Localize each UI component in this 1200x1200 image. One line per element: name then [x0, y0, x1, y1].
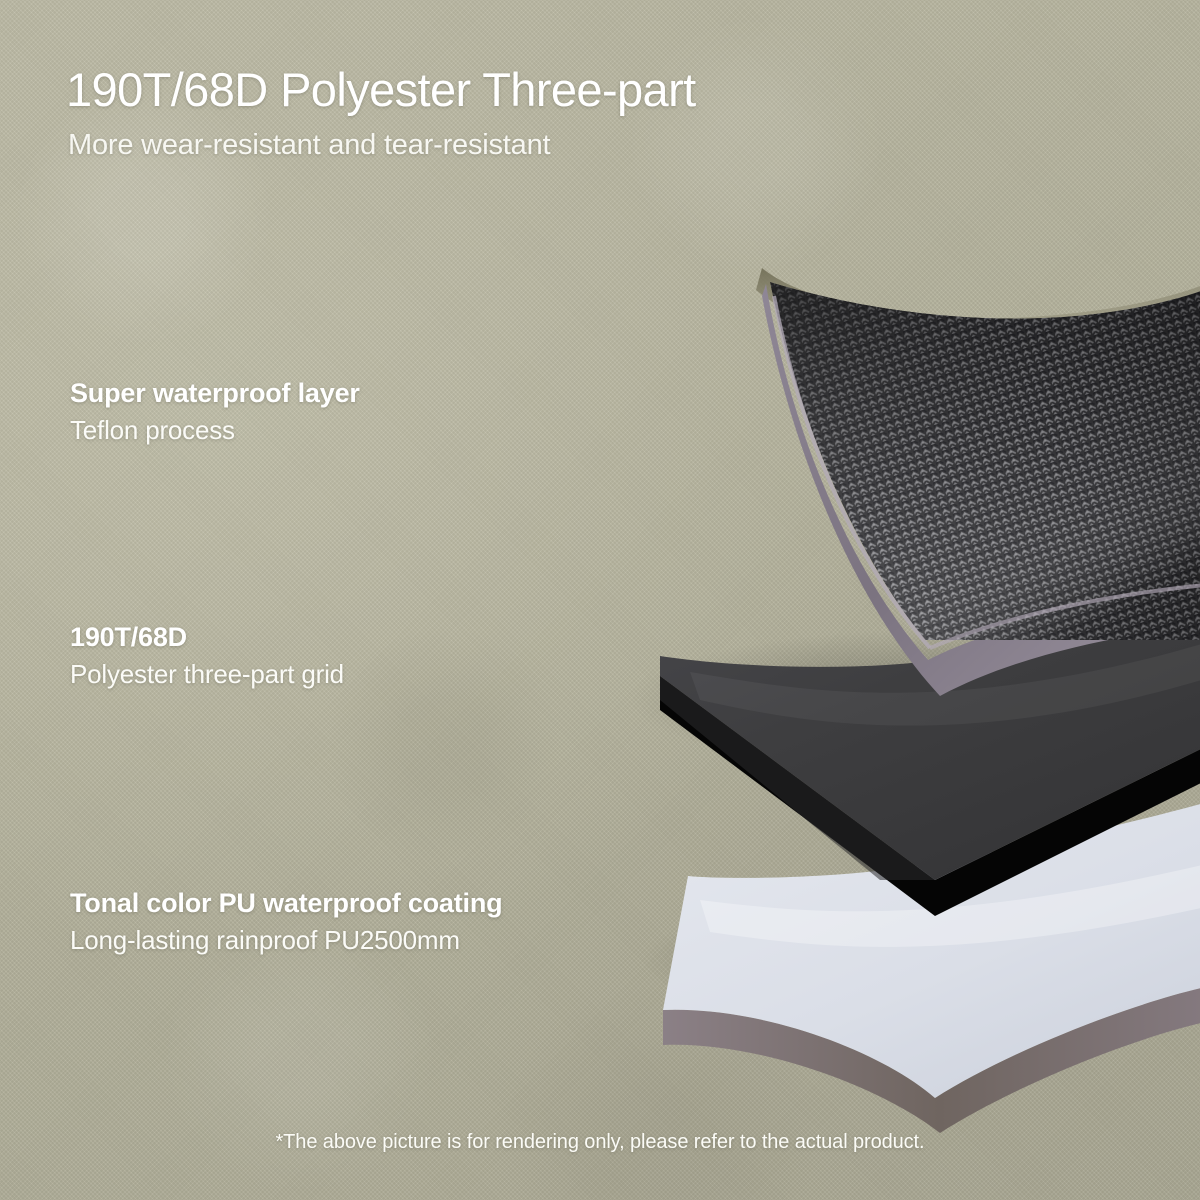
layer-top-waterproof-weave: [756, 268, 1200, 696]
exploded-layer-illustration: [0, 0, 1200, 1200]
infographic-canvas: 190T/68D Polyester Three-part More wear-…: [0, 0, 1200, 1200]
